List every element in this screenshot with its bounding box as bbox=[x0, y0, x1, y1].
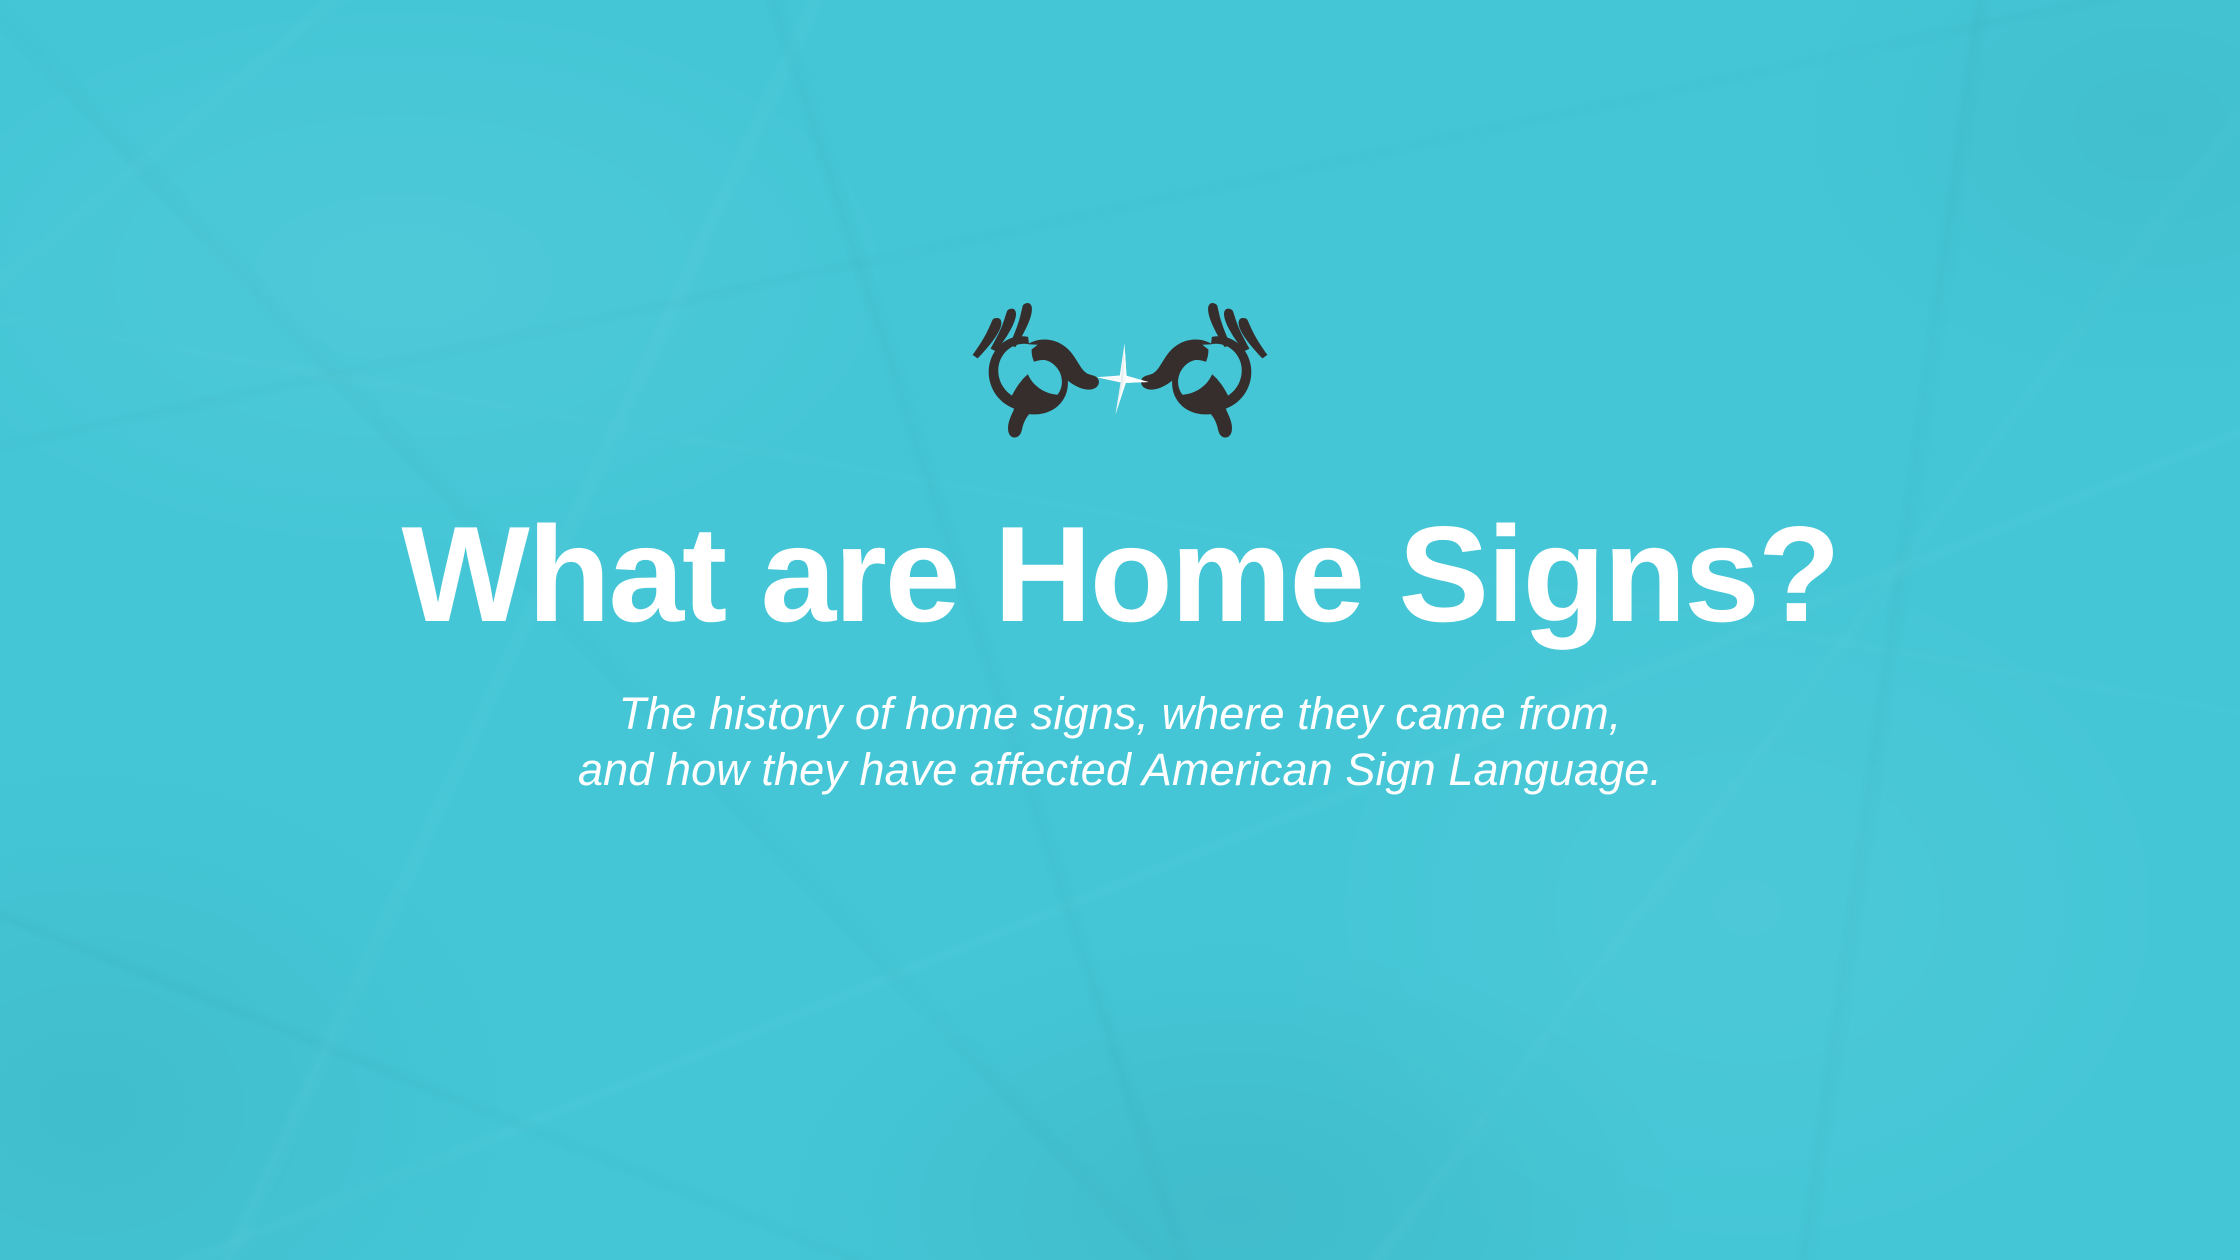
spark-burst bbox=[1097, 344, 1149, 415]
two-hands-signing-icon bbox=[970, 296, 1270, 464]
slide-content: What are Home Signs? The history of home… bbox=[0, 0, 2240, 1260]
title-slide: What are Home Signs? The history of home… bbox=[0, 0, 2240, 1260]
subtitle-line-2: and how they have affected American Sign… bbox=[578, 742, 1662, 798]
subtitle-line-1: The history of home signs, where they ca… bbox=[578, 686, 1662, 742]
page-title: What are Home Signs? bbox=[401, 506, 1838, 642]
page-subtitle: The history of home signs, where they ca… bbox=[578, 686, 1662, 798]
left-hand-sign bbox=[973, 303, 1099, 438]
right-hand-sign bbox=[1141, 303, 1267, 438]
